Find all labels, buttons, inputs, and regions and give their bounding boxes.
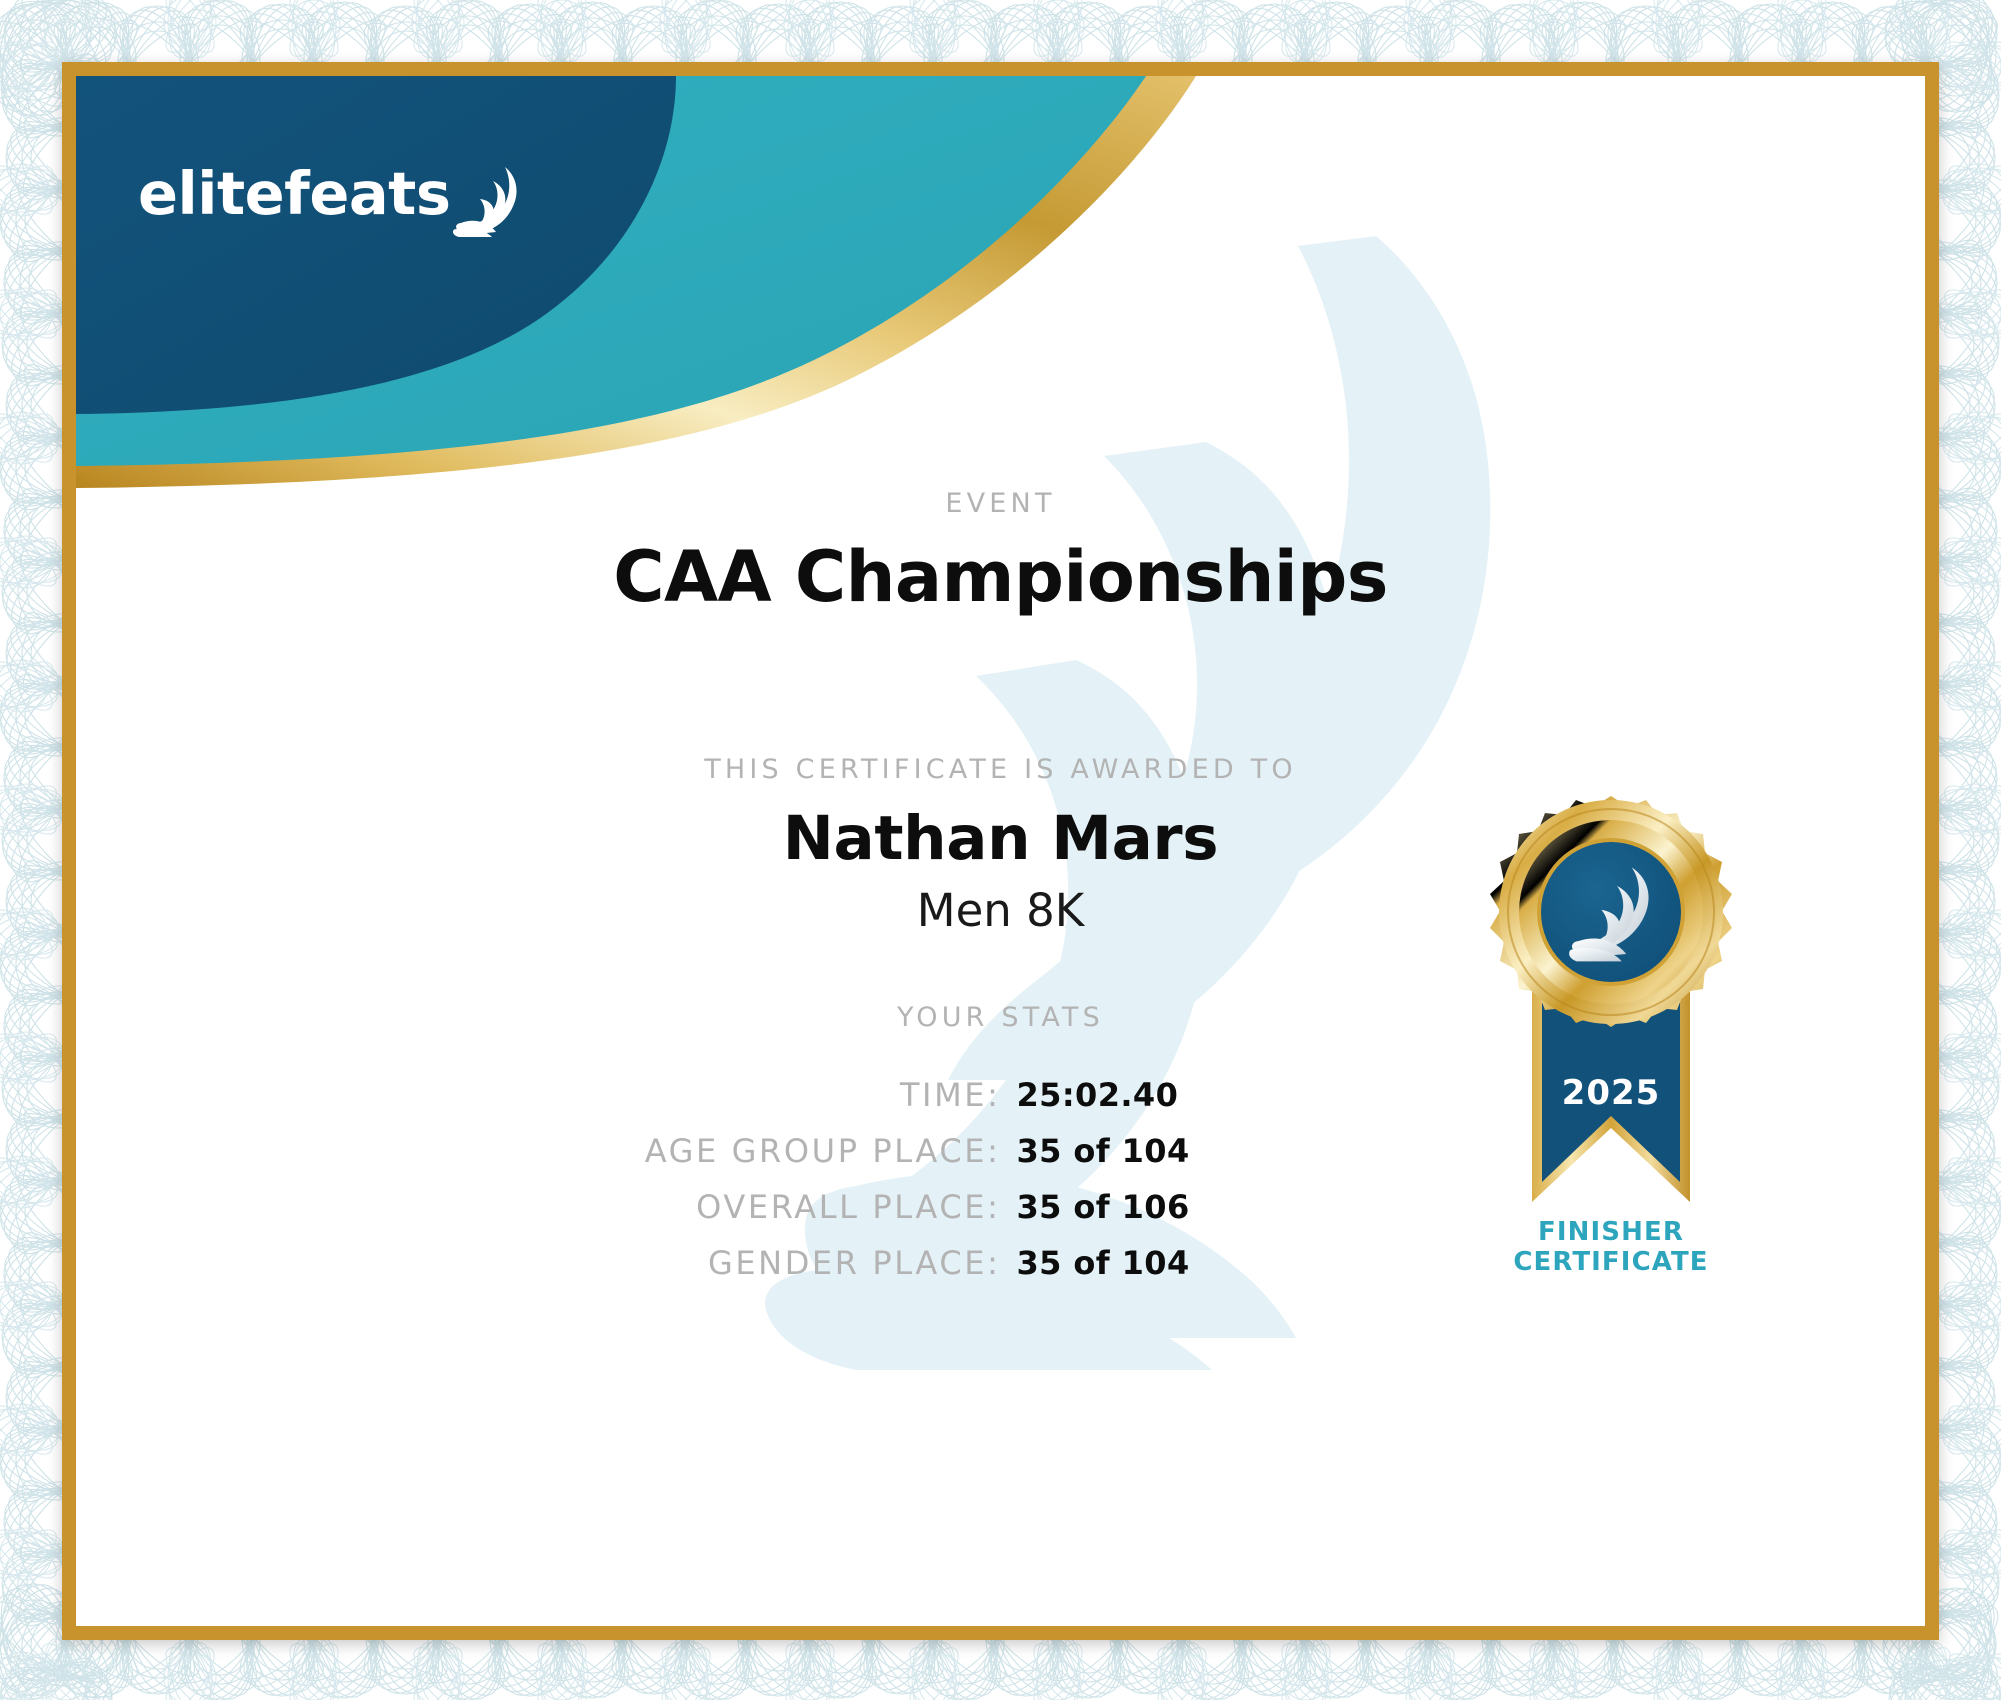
stat-label: AGE GROUP PLACE: [361, 1132, 1001, 1170]
certificate-content: EVENT CAA Championships THIS CERTIFICATE… [76, 76, 1925, 1626]
certificate-gold-frame: elitefeats EVENT CAA Championships THIS … [62, 62, 1939, 1640]
stat-label: OVERALL PLACE: [361, 1188, 1001, 1226]
finisher-medal-badge: 2025 [1466, 786, 1756, 1266]
elitefeats-logo: elitefeats [138, 164, 521, 223]
event-label: EVENT [76, 488, 1925, 519]
finisher-certificate-caption: FINISHER CERTIFICATE [1466, 1218, 1756, 1278]
event-title: CAA Championships [76, 536, 1925, 618]
awarded-to-label: THIS CERTIFICATE IS AWARDED TO [76, 754, 1925, 785]
badge-year: 2025 [1562, 1073, 1661, 1113]
stat-label: TIME: [361, 1076, 1001, 1114]
stat-label: GENDER PLACE: [361, 1244, 1001, 1282]
certificate-body: elitefeats EVENT CAA Championships THIS … [76, 76, 1925, 1626]
finisher-caption-line1: FINISHER [1466, 1218, 1756, 1248]
certificate-page: elitefeats EVENT CAA Championships THIS … [0, 0, 2001, 1700]
winged-foot-icon [453, 165, 521, 237]
finisher-caption-line2: CERTIFICATE [1466, 1248, 1756, 1278]
brand-wordmark: elitefeats [138, 164, 451, 223]
